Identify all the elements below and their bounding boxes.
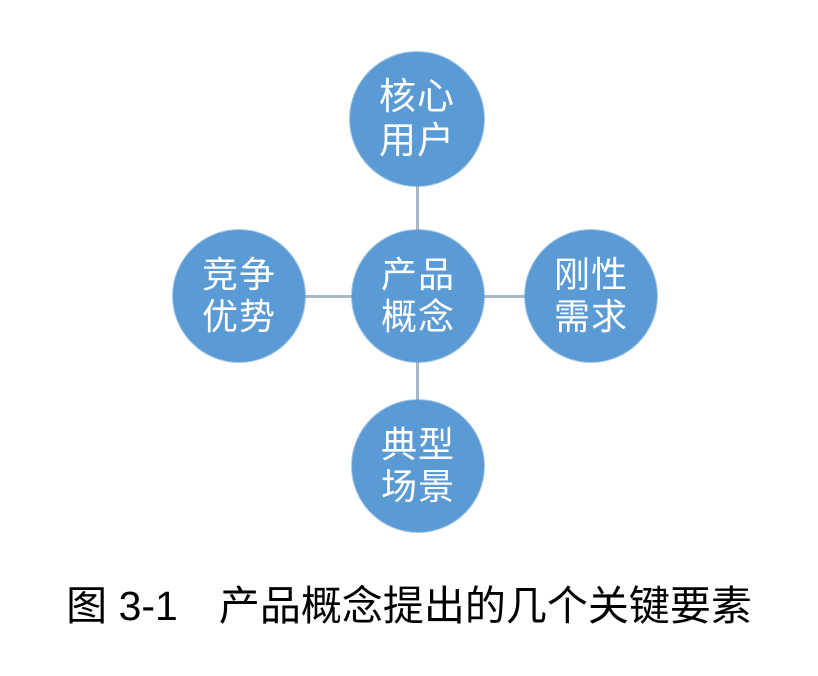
radial-diagram: 核心 用户 竞争 优势 产品 概念 刚性 需求 典型 场景 — [0, 0, 818, 560]
node-core-users-label: 核心 用户 — [379, 75, 455, 162]
node-product-concept[interactable]: 产品 概念 — [352, 230, 484, 362]
node-competitive-advantage-label: 竞争 优势 — [202, 254, 276, 339]
node-rigid-demand-label: 刚性 需求 — [554, 254, 628, 339]
connector-center-to-top — [416, 184, 419, 234]
connector-center-to-left — [303, 295, 355, 298]
node-typical-scenario[interactable]: 典型 场景 — [352, 400, 484, 532]
connector-center-to-right — [481, 295, 527, 298]
connector-center-to-bottom — [416, 360, 419, 404]
node-product-concept-label: 产品 概念 — [381, 254, 455, 339]
node-rigid-demand[interactable]: 刚性 需求 — [525, 230, 657, 362]
node-competitive-advantage[interactable]: 竞争 优势 — [173, 230, 305, 362]
figure-container: 核心 用户 竞争 优势 产品 概念 刚性 需求 典型 场景 图 3-1 产品概念… — [0, 0, 818, 676]
figure-caption: 图 3-1 产品概念提出的几个关键要素 — [0, 586, 818, 627]
node-typical-scenario-label: 典型 场景 — [381, 424, 455, 509]
node-core-users[interactable]: 核心 用户 — [350, 52, 484, 186]
